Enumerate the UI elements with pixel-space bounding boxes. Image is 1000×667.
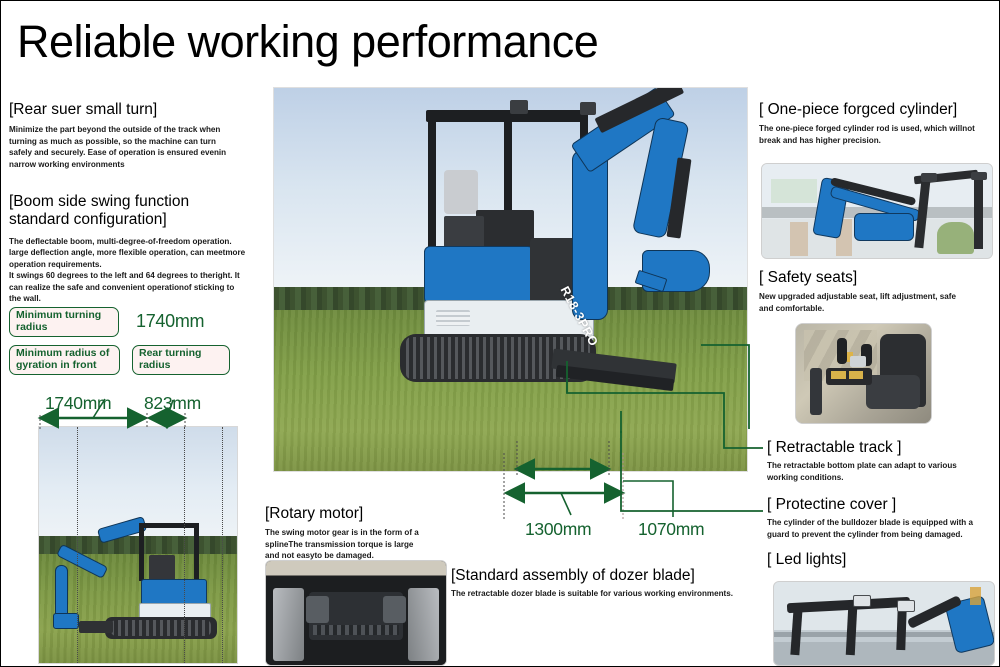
section-heading: [Standard assembly of dozer blade] [451, 567, 766, 585]
section-heading: [ Retractable track ] [767, 439, 1000, 457]
section-heading: [ One-piece forgced cylinder] [759, 101, 999, 119]
spec-chip-rear-turning-radius: Rear turning radius [132, 345, 230, 375]
extension-line-left [77, 427, 78, 663]
photo-rotary-motor [265, 560, 447, 666]
extension-line-mid [184, 427, 185, 663]
photo-led-lights [773, 581, 995, 666]
section-body: The deflectable boom, multi-degree-of-fr… [9, 236, 267, 305]
spec-chip-label: Minimum turning radius [16, 310, 101, 334]
spec-chip-minimum-turning-radius: Minimum turning radius [9, 307, 119, 337]
excavator-illustration [53, 517, 228, 652]
photo-main-excavator: R18-3PRO [273, 87, 748, 472]
section-heading: [ Protectine cover ] [767, 496, 1000, 514]
excavator-illustration [384, 98, 744, 448]
dimension-arrow-blade-width-outer [506, 493, 623, 515]
section-protective-cover: [ Protectine cover ] The cylinder of the… [767, 496, 1000, 540]
section-heading: [ Safety seats] [759, 269, 999, 287]
extension-line-right [222, 427, 223, 663]
section-safety-seats: [ Safety seats] New upgraded adjustable … [759, 269, 999, 314]
dimension-label-blade-width: 1070mm [638, 519, 704, 540]
section-body: Minimize the part beyond the outside of … [9, 124, 261, 170]
section-body: The cylinder of the bulldozer blade is e… [767, 517, 1000, 540]
dimension-label-left-rear: 823mm [144, 393, 201, 414]
section-heading: [Boom side swing function standard confi… [9, 193, 267, 230]
section-body: The swing motor gear is in the form of a… [265, 527, 450, 561]
dimension-label-track-width: 1300mm [525, 519, 591, 540]
section-body: The one-piece forged cylinder rod is use… [759, 123, 999, 146]
photo-forged-cylinder [761, 163, 993, 259]
section-body: The retractable bottom plate can adapt t… [767, 460, 1000, 483]
spec-value-minimum-turning-radius: 1740mm [136, 311, 204, 332]
section-heading: [Rotary motor] [265, 505, 450, 523]
section-boom-side-swing: [Boom side swing function standard confi… [9, 193, 267, 304]
section-body: New upgraded adjustable seat, lift adjus… [759, 291, 999, 314]
section-rotary-motor: [Rotary motor] The swing motor gear is i… [265, 505, 450, 562]
photo-safety-seat [795, 323, 932, 424]
section-standard-dozer-blade: [Standard assembly of dozer blade] The r… [451, 567, 766, 600]
section-one-piece-forged-cylinder: [ One-piece forgced cylinder] The one-pi… [759, 101, 999, 146]
dimension-label-left-overall: 1740mm [45, 393, 111, 414]
section-rear-small-turn: [Rear suer small turn] Minimize the part… [9, 101, 261, 170]
photo-excavator-side-view [38, 426, 238, 664]
section-heading: [ Led lights] [767, 551, 1000, 569]
section-body: The retractable dozer blade is suitable … [451, 588, 766, 599]
product-feature-page: Reliable working performance [Rear suer … [0, 0, 1000, 667]
section-led-lights: [ Led lights] [767, 551, 1000, 569]
section-heading: [Rear suer small turn] [9, 101, 261, 119]
page-title: Reliable working performance [17, 19, 598, 64]
section-retractable-track: [ Retractable track ] The retractable bo… [767, 439, 1000, 483]
spec-chip-label: Rear turning radius [139, 348, 201, 372]
spec-chip-label: Minimum radius of gyration in front [16, 348, 109, 372]
spec-chip-minimum-radius-of-gyration: Minimum radius of gyration in front [9, 345, 120, 375]
